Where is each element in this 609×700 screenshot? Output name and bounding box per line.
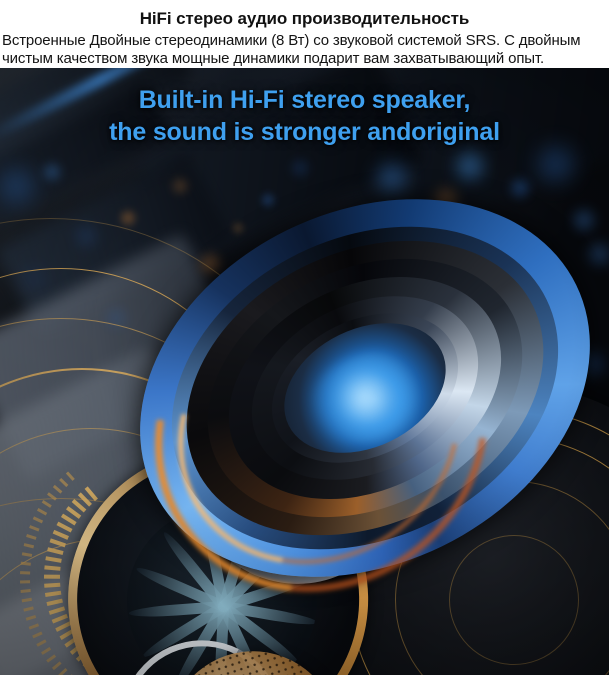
tick-mark bbox=[29, 623, 39, 629]
tick-mark bbox=[20, 571, 30, 574]
page-title: HiFi стерео аудио производительность bbox=[0, 0, 609, 30]
product-description-text: HiFi стерео аудио производительность Вст… bbox=[0, 0, 609, 68]
tick-mark bbox=[22, 598, 32, 603]
tick-mark bbox=[46, 654, 56, 662]
tick-mark bbox=[41, 647, 51, 655]
tick-mark bbox=[26, 615, 36, 621]
tick-mark bbox=[23, 606, 33, 611]
caption-line-1: Built-in Hi-Fi stereo speaker, bbox=[139, 86, 471, 114]
description-paragraph: Встроенные Двойные стереодинамики (8 Вт)… bbox=[0, 30, 609, 68]
photo-caption: Built-in Hi-Fi stereo speaker, the sound… bbox=[0, 84, 609, 148]
tick-mark bbox=[36, 639, 46, 646]
caption-line-2: the sound is stronger andoriginal bbox=[0, 116, 609, 148]
product-photo: Built-in Hi-Fi stereo speaker, the sound… bbox=[0, 68, 609, 675]
tick-mark bbox=[20, 580, 30, 583]
tick-mark bbox=[21, 589, 31, 593]
tick-mark bbox=[32, 631, 42, 638]
